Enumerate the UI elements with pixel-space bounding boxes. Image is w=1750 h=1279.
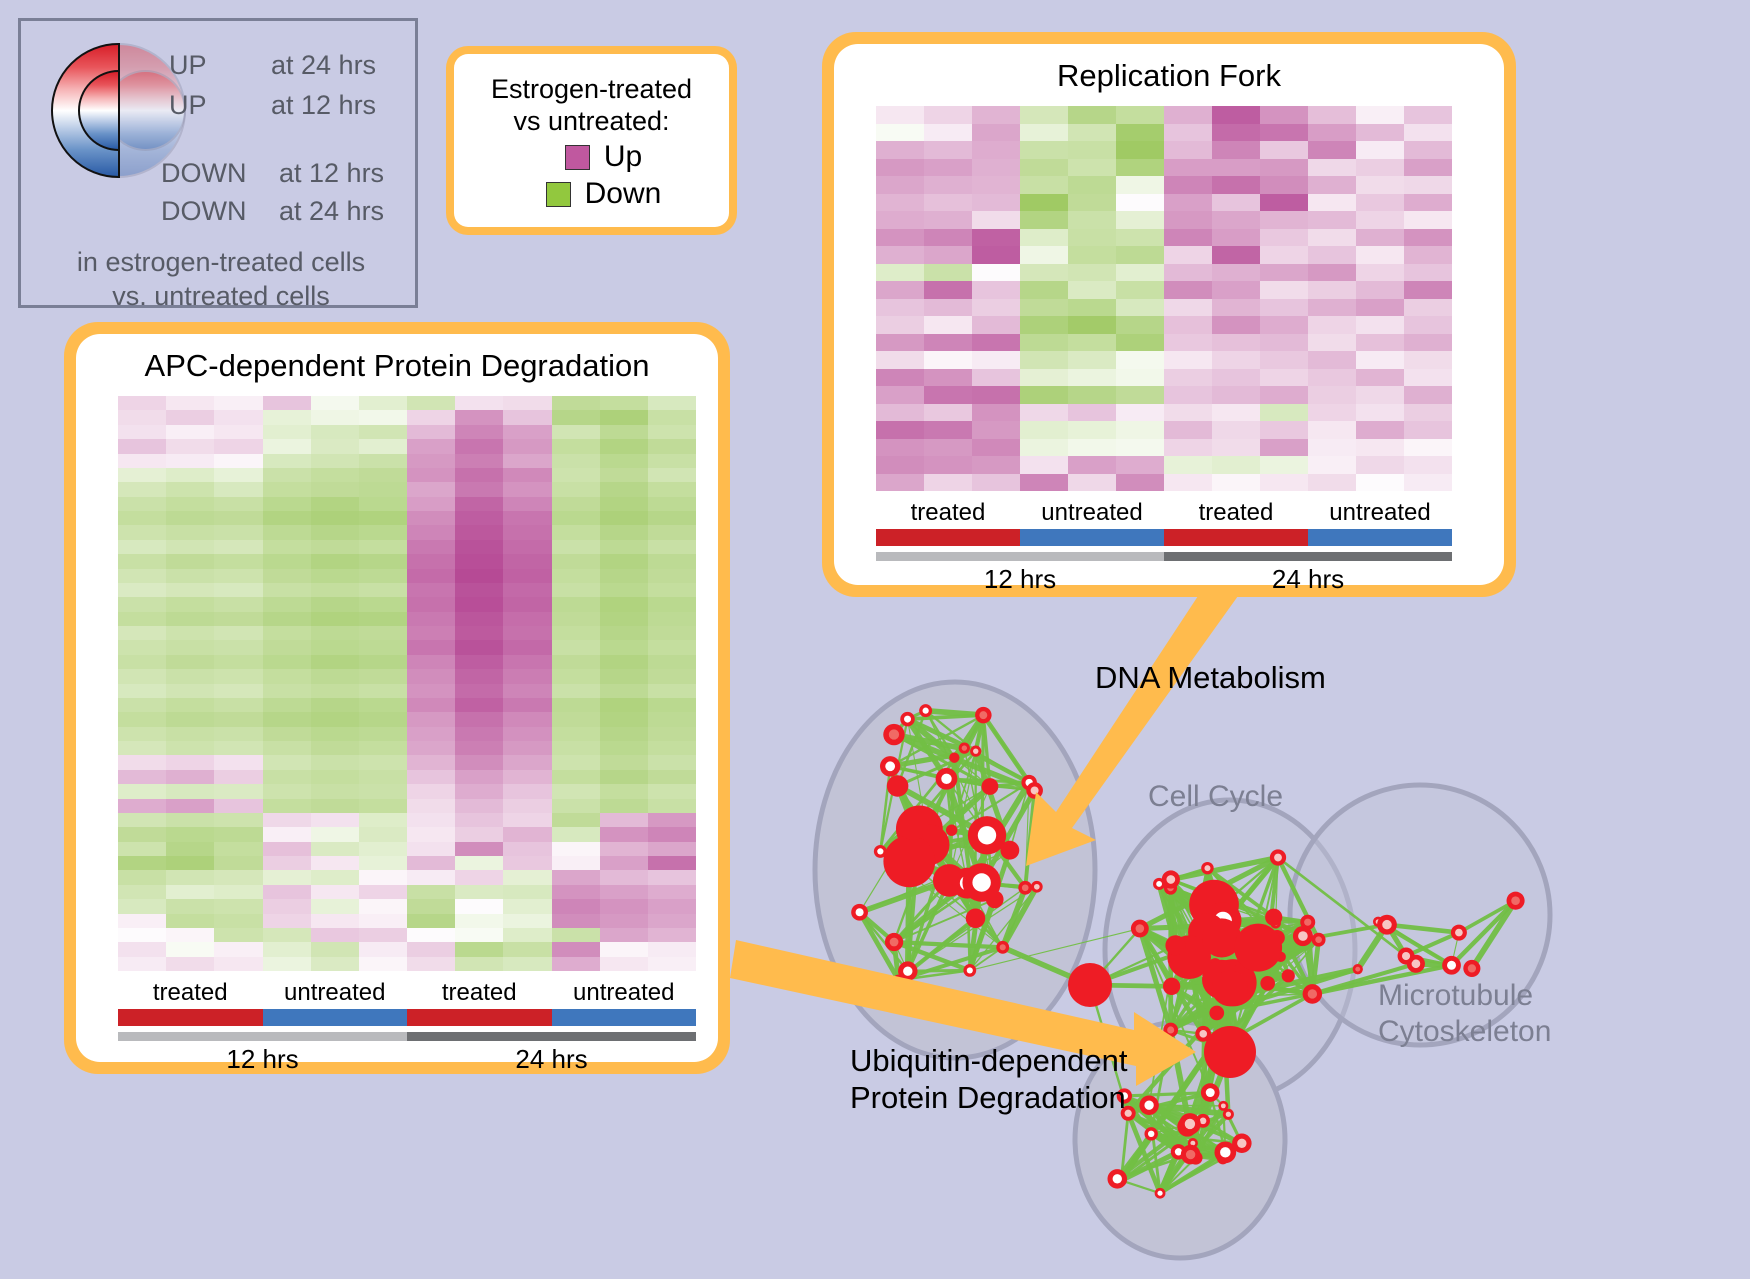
- heatmap-cell: [552, 655, 600, 669]
- heatmap-cell: [214, 468, 262, 482]
- heatmap-cell: [972, 299, 1020, 317]
- heatmap-cell: [503, 684, 551, 698]
- heatmap-cell: [1212, 334, 1260, 352]
- network-node[interactable]: [1201, 862, 1213, 874]
- heatmap-cell: [263, 957, 311, 971]
- network-node[interactable]: [1507, 892, 1525, 910]
- legend-down-12-time: at 12 hrs: [279, 158, 384, 189]
- heatmap-cell: [311, 425, 359, 439]
- heatmap-cell: [263, 914, 311, 928]
- heatmap-cell: [263, 698, 311, 712]
- heatmap-cell: [455, 554, 503, 568]
- node-outer-ring: [883, 835, 935, 887]
- network-node[interactable]: [1000, 841, 1019, 860]
- network-node[interactable]: [1303, 984, 1323, 1004]
- heatmap-cell: [1068, 211, 1116, 229]
- heatmap-cell: [359, 626, 407, 640]
- heatmap-axis-annotation-replication-fork: treated untreated treated untreated 12 h: [876, 499, 1452, 595]
- heatmap-cell: [311, 942, 359, 956]
- heatmap-cell: [263, 655, 311, 669]
- network-node[interactable]: [1451, 925, 1467, 941]
- heatmap-cell: [600, 454, 648, 468]
- network-node[interactable]: [975, 707, 992, 724]
- heatmap-cell: [1212, 141, 1260, 159]
- network-node[interactable]: [883, 835, 935, 887]
- heatmap-cell: [1212, 474, 1260, 492]
- heatmap-cell: [1020, 351, 1068, 369]
- heatmap-cell: [118, 727, 166, 741]
- heatmap-cell: [455, 396, 503, 410]
- heatmap-cell: [600, 856, 648, 870]
- heatmap-cell: [1116, 264, 1164, 282]
- network-node[interactable]: [1163, 978, 1180, 995]
- group-label-1: untreated: [1020, 499, 1164, 527]
- heatmap-cell: [263, 640, 311, 654]
- heatmap-cell: [648, 928, 696, 942]
- network-node[interactable]: [1162, 870, 1180, 888]
- heatmap-cell: [311, 957, 359, 971]
- legend-item-down: Down: [546, 177, 662, 211]
- network-node[interactable]: [1018, 881, 1032, 895]
- heatmap-cell: [407, 928, 455, 942]
- network-node[interactable]: [968, 816, 1006, 854]
- network-node[interactable]: [1155, 1188, 1166, 1199]
- heatmap-cell: [1356, 246, 1404, 264]
- network-node[interactable]: [1234, 924, 1282, 972]
- network-node[interactable]: [1201, 1083, 1220, 1102]
- panel-replication-fork: Replication Fork treated untreated treat…: [822, 32, 1516, 597]
- network-node[interactable]: [893, 975, 904, 986]
- network-node[interactable]: [946, 824, 957, 835]
- heatmap-cell: [118, 870, 166, 884]
- heatmap-cell: [263, 755, 311, 769]
- network-node[interactable]: [966, 909, 986, 929]
- network-node[interactable]: [1463, 960, 1480, 977]
- heatmap-cell: [1404, 106, 1452, 124]
- heatmap-cell: [166, 727, 214, 741]
- heatmap-cell: [1308, 264, 1356, 282]
- node-outer-ring: [1209, 1006, 1224, 1021]
- heatmap-cell: [1020, 176, 1068, 194]
- heatmap-cell: [552, 468, 600, 482]
- heatmap-cell: [1068, 334, 1116, 352]
- heatmap-cell: [359, 454, 407, 468]
- network-node[interactable]: [970, 746, 981, 757]
- network-node[interactable]: [1031, 881, 1043, 893]
- heatmap-cell: [552, 942, 600, 956]
- heatmap-cell: [648, 827, 696, 841]
- network-node[interactable]: [1181, 1145, 1201, 1165]
- heatmap-cell: [876, 299, 924, 317]
- network-node[interactable]: [1270, 849, 1286, 865]
- heatmap-cell: [311, 928, 359, 942]
- heatmap-cell: [648, 497, 696, 511]
- network-node[interactable]: [1223, 1109, 1234, 1120]
- timepoint-label-row: 12 hrs 24 hrs: [118, 1044, 696, 1075]
- heatmap-cell: [455, 914, 503, 928]
- heatmap-cell: [214, 454, 262, 468]
- network-node[interactable]: [959, 742, 970, 753]
- heatmap-cell: [311, 669, 359, 683]
- heatmap-cell: [503, 813, 551, 827]
- network-node[interactable]: [900, 712, 915, 727]
- heatmap-cell: [924, 404, 972, 422]
- heatmap-cell: [455, 640, 503, 654]
- heatmap-cell: [1068, 124, 1116, 142]
- heatmap-cell: [1404, 299, 1452, 317]
- network-node[interactable]: [1131, 920, 1149, 938]
- network-node[interactable]: [1260, 976, 1275, 991]
- heatmap-cell: [924, 351, 972, 369]
- node-inner-fill: [1185, 1119, 1195, 1129]
- heatmap-cell: [600, 942, 648, 956]
- heatmap-cell: [214, 698, 262, 712]
- heatmap-cell: [407, 583, 455, 597]
- heatmap-cell: [214, 482, 262, 496]
- heatmap-cell: [1068, 299, 1116, 317]
- heatmap-cell: [1020, 106, 1068, 124]
- heatmap-cell: [214, 669, 262, 683]
- heatmap-cell: [972, 194, 1020, 212]
- heatmap-cell: [1068, 176, 1116, 194]
- heatmap-cell: [166, 957, 214, 971]
- heatmap-cell: [166, 626, 214, 640]
- heatmap-cell: [1116, 421, 1164, 439]
- heatmap-cell: [648, 482, 696, 496]
- network-node[interactable]: [1398, 948, 1415, 965]
- heatmap-cell: [552, 899, 600, 913]
- heatmap-cell: [1260, 404, 1308, 422]
- heatmap-cell: [1308, 176, 1356, 194]
- network-node[interactable]: [1265, 909, 1282, 926]
- network-node[interactable]: [1204, 1026, 1256, 1078]
- heatmap-cell: [1020, 404, 1068, 422]
- group-color-2: [1164, 529, 1308, 546]
- heatmap-cell: [359, 928, 407, 942]
- heatmap-cell: [552, 454, 600, 468]
- heatmap-cell: [455, 870, 503, 884]
- node-inner-fill: [978, 826, 996, 844]
- heatmap-cell: [214, 914, 262, 928]
- network-node[interactable]: [851, 904, 868, 921]
- network-node[interactable]: [1300, 915, 1315, 930]
- heatmap-cell: [455, 612, 503, 626]
- legend-item-up: Up: [565, 140, 642, 174]
- colorwheel-legend-box: UP at 24 hrs UP at 12 hrs DOWN at 12 hrs…: [18, 18, 418, 308]
- heatmap-cell: [263, 569, 311, 583]
- heatmap-cell: [214, 741, 262, 755]
- network-node[interactable]: [1212, 970, 1248, 1006]
- heatmap-cell: [1068, 439, 1116, 457]
- heatmap-cell: [1068, 369, 1116, 387]
- heatmap-cell: [503, 612, 551, 626]
- group-label-2: treated: [407, 979, 552, 1007]
- heatmap-cell: [552, 410, 600, 424]
- heatmap-cell: [1212, 456, 1260, 474]
- network-node[interactable]: [982, 778, 999, 795]
- heatmap-cell: [1308, 106, 1356, 124]
- heatmap-cell: [1020, 386, 1068, 404]
- heatmap-cell: [1116, 141, 1164, 159]
- node-inner-fill: [967, 967, 973, 973]
- heatmap-cell: [455, 712, 503, 726]
- node-outer-ring: [1068, 963, 1112, 1007]
- network-node[interactable]: [1282, 969, 1295, 982]
- node-inner-fill: [1220, 1147, 1230, 1157]
- node-inner-fill: [1156, 881, 1162, 887]
- node-outer-ring: [949, 752, 959, 762]
- heatmap-cell: [1020, 439, 1068, 457]
- panel-title-apc: APC-dependent Protein Degradation: [76, 334, 718, 384]
- heatmap-cell: [876, 351, 924, 369]
- network-node[interactable]: [986, 891, 1004, 909]
- updown-legend-header: Estrogen-treated vs untreated:: [491, 74, 692, 138]
- heatmap-cell: [1260, 141, 1308, 159]
- heatmap-cell: [1260, 439, 1308, 457]
- heatmap-cell: [118, 626, 166, 640]
- heatmap-cell: [1404, 124, 1452, 142]
- heatmap-cell: [263, 540, 311, 554]
- heatmap-cell: [1020, 246, 1068, 264]
- heatmap-cell: [552, 755, 600, 769]
- network-node[interactable]: [936, 768, 958, 790]
- heatmap-cell: [876, 474, 924, 492]
- network-node[interactable]: [1209, 1006, 1224, 1021]
- network-node[interactable]: [1108, 1169, 1128, 1189]
- heatmap-cell: [552, 669, 600, 683]
- heatmap-cell: [311, 784, 359, 798]
- heatmap-cell: [455, 684, 503, 698]
- heatmap-cell: [359, 482, 407, 496]
- heatmap-cell: [600, 914, 648, 928]
- heatmap-cell: [552, 914, 600, 928]
- network-node[interactable]: [949, 752, 959, 762]
- node-inner-fill: [1136, 924, 1145, 933]
- heatmap-cell: [1116, 369, 1164, 387]
- heatmap-cell: [1260, 334, 1308, 352]
- heatmap-cell: [1404, 316, 1452, 334]
- node-inner-fill: [1206, 1088, 1215, 1097]
- heatmap-cell: [924, 334, 972, 352]
- network-node[interactable]: [898, 810, 928, 840]
- heatmap-cell: [263, 626, 311, 640]
- group-label-2: treated: [1164, 499, 1308, 527]
- group-color-0: [876, 529, 1020, 546]
- network-node[interactable]: [1312, 933, 1326, 947]
- heatmap-cell: [118, 914, 166, 928]
- heatmap-cell: [263, 583, 311, 597]
- group-label-1: untreated: [263, 979, 408, 1007]
- heatmap-cell: [263, 942, 311, 956]
- network-node[interactable]: [1026, 782, 1043, 799]
- node-inner-fill: [1468, 964, 1476, 972]
- heatmap-cell: [311, 525, 359, 539]
- heatmap-cell: [166, 511, 214, 525]
- heatmap-cell: [311, 554, 359, 568]
- heatmap-cell: [359, 468, 407, 482]
- heatmap-cell: [648, 684, 696, 698]
- heatmap-cell: [503, 396, 551, 410]
- heatmap-cell: [263, 856, 311, 870]
- heatmap-cell: [311, 827, 359, 841]
- network-node[interactable]: [996, 941, 1009, 954]
- heatmap-cell: [1116, 299, 1164, 317]
- heatmap-cell: [1212, 316, 1260, 334]
- network-node[interactable]: [919, 704, 932, 717]
- node-inner-fill: [962, 745, 967, 750]
- heatmap-cell: [359, 842, 407, 856]
- heatmap-cell: [600, 597, 648, 611]
- heatmap-cell: [359, 856, 407, 870]
- heatmap-cell: [118, 612, 166, 626]
- node-inner-fill: [1186, 1150, 1195, 1159]
- heatmap-cell: [407, 770, 455, 784]
- heatmap-cell: [972, 474, 1020, 492]
- network-node[interactable]: [880, 756, 900, 776]
- heatmap-cell: [455, 583, 503, 597]
- heatmap-cell: [166, 497, 214, 511]
- heatmap-cell: [972, 404, 1020, 422]
- heatmap-cell: [166, 885, 214, 899]
- heatmap-cell: [1068, 159, 1116, 177]
- heatmap-cell: [1116, 106, 1164, 124]
- heatmap-cell: [214, 569, 262, 583]
- node-inner-fill: [1031, 786, 1039, 794]
- heatmap-cell: [552, 583, 600, 597]
- heatmap-cell: [503, 482, 551, 496]
- heatmap-cell: [455, 755, 503, 769]
- network-node[interactable]: [1442, 956, 1461, 975]
- legend-down-24-state: DOWN: [161, 196, 246, 227]
- heatmap-cell: [1308, 159, 1356, 177]
- heatmap-cell: [1020, 124, 1068, 142]
- heatmap-cell: [876, 264, 924, 282]
- heatmap-cell: [455, 799, 503, 813]
- heatmap-cell: [876, 334, 924, 352]
- heatmap-cell: [118, 856, 166, 870]
- heatmap-cell: [407, 755, 455, 769]
- heatmap-cell: [359, 410, 407, 424]
- network-node[interactable]: [1179, 1113, 1201, 1135]
- heatmap-cell: [407, 870, 455, 884]
- network-node[interactable]: [885, 933, 903, 951]
- heatmap-cell: [263, 454, 311, 468]
- heatmap-cell: [166, 655, 214, 669]
- node-inner-fill: [1511, 896, 1520, 905]
- heatmap-cell: [1212, 106, 1260, 124]
- network-node[interactable]: [887, 775, 909, 797]
- network-node[interactable]: [1165, 935, 1185, 955]
- heatmap-cell: [263, 784, 311, 798]
- heatmap-cell: [648, 511, 696, 525]
- heatmap-cell: [1164, 194, 1212, 212]
- heatmap-cell: [359, 741, 407, 755]
- heatmap-cell: [407, 942, 455, 956]
- node-inner-fill: [973, 748, 978, 753]
- node-outer-ring: [887, 775, 909, 797]
- heatmap-cell: [1404, 351, 1452, 369]
- up-color-swatch: [565, 145, 590, 170]
- heatmap-cell: [1356, 211, 1404, 229]
- heatmap-cell: [552, 540, 600, 554]
- network-node[interactable]: [883, 724, 904, 745]
- network-node[interactable]: [1377, 915, 1397, 935]
- heatmap-cell: [407, 799, 455, 813]
- network-node[interactable]: [1139, 1095, 1158, 1114]
- heatmap-cell: [407, 425, 455, 439]
- heatmap-cell: [648, 540, 696, 554]
- heatmap-cell: [359, 583, 407, 597]
- heatmap-cell: [503, 554, 551, 568]
- heatmap-cell: [1260, 159, 1308, 177]
- heatmap-cell: [1164, 351, 1212, 369]
- heatmap-cell: [455, 482, 503, 496]
- heatmap-cell: [1164, 141, 1212, 159]
- heatmap-cell: [1164, 211, 1212, 229]
- heatmap-cell: [214, 497, 262, 511]
- heatmap-cell: [407, 655, 455, 669]
- heatmap-cell: [1404, 421, 1452, 439]
- heatmap-cell: [311, 727, 359, 741]
- network-node[interactable]: [1353, 964, 1363, 974]
- heatmap-cell: [1308, 194, 1356, 212]
- heatmap-cell: [924, 474, 972, 492]
- node-inner-fill: [1237, 1139, 1246, 1148]
- heatmap-cell: [1164, 246, 1212, 264]
- network-node[interactable]: [1068, 963, 1112, 1007]
- heatmap-cell: [552, 684, 600, 698]
- heatmap-cell: [1068, 351, 1116, 369]
- network-node[interactable]: [1144, 1127, 1157, 1140]
- heatmap-cell: [876, 124, 924, 142]
- heatmap-cell: [600, 957, 648, 971]
- heatmap-cell: [552, 626, 600, 640]
- heatmap-cell: [407, 957, 455, 971]
- heatmap-cell: [311, 870, 359, 884]
- heatmap-cell: [1356, 299, 1404, 317]
- heatmap-cell: [600, 813, 648, 827]
- heatmap-cell: [407, 511, 455, 525]
- network-node[interactable]: [1163, 1023, 1178, 1038]
- heatmap-cell: [1164, 229, 1212, 247]
- network-node[interactable]: [963, 964, 976, 977]
- heatmap-cell: [972, 124, 1020, 142]
- heatmap-cell: [1260, 369, 1308, 387]
- heatmap-cell: [407, 899, 455, 913]
- heatmap-cell: [552, 856, 600, 870]
- heatmap-cell: [407, 454, 455, 468]
- timepoint-color-bar: [876, 552, 1452, 561]
- heatmap-cell: [924, 211, 972, 229]
- heatmap-cell: [263, 554, 311, 568]
- heatmap-cell: [263, 669, 311, 683]
- heatmap-cell: [600, 554, 648, 568]
- heatmap-cell: [1116, 474, 1164, 492]
- heatmap-cell: [311, 899, 359, 913]
- heatmap-cell: [214, 957, 262, 971]
- heatmap-cell: [1212, 281, 1260, 299]
- node-inner-fill: [856, 908, 864, 916]
- network-node[interactable]: [1232, 1134, 1252, 1154]
- heatmap-cell: [972, 439, 1020, 457]
- heatmap-cell: [648, 583, 696, 597]
- heatmap-cell: [1020, 141, 1068, 159]
- heatmap-cell: [600, 396, 648, 410]
- heatmap-cell: [359, 439, 407, 453]
- node-inner-fill: [877, 848, 883, 854]
- heatmap-cell: [359, 597, 407, 611]
- heatmap-cell: [118, 525, 166, 539]
